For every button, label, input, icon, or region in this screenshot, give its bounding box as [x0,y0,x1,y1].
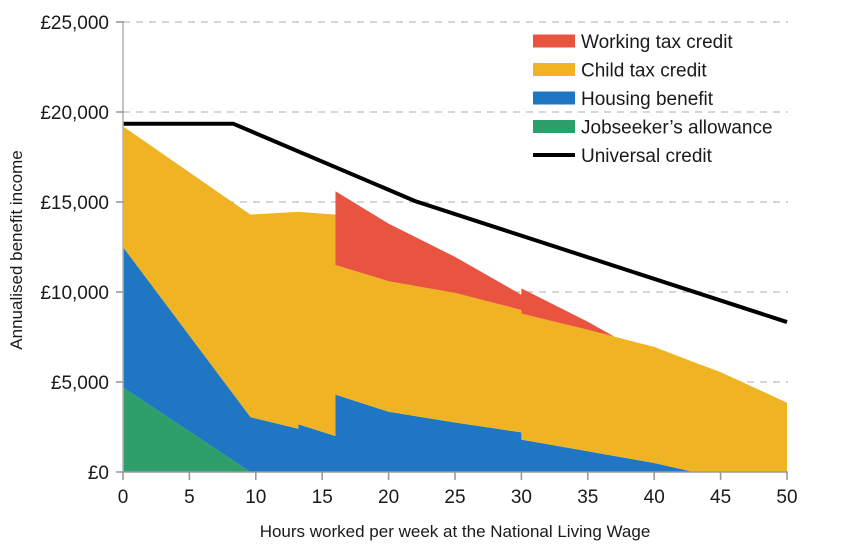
y-tick-label: £5,000 [51,373,109,394]
legend-item[interactable]: Universal credit [533,146,713,167]
legend-swatch [533,35,575,48]
legend-label: Universal credit [581,146,713,167]
x-axis [123,472,788,480]
benefit-income-chart: £0£5,000£10,000£15,000£20,000£25,000 051… [0,0,848,553]
chart-legend: Working tax creditChild tax creditHousin… [533,32,773,167]
y-tick-label: £25,000 [40,13,109,34]
x-tick-label: 25 [444,487,465,508]
y-axis [116,22,124,472]
stacked-areas [123,126,787,472]
y-tick-label: £10,000 [40,283,109,304]
x-tick-label: 45 [710,487,731,508]
legend-label: Child tax credit [581,61,707,82]
legend-label: Housing benefit [581,89,714,110]
x-tick-label: 15 [312,487,333,508]
legend-item[interactable]: Working tax credit [533,32,733,53]
chart-canvas: £0£5,000£10,000£15,000£20,000£25,000 051… [0,0,848,553]
x-tick-label: 0 [118,487,129,508]
y-tick-label: £0 [88,463,109,484]
y-axis-tick-labels: £0£5,000£10,000£15,000£20,000£25,000 [40,13,109,484]
x-axis-tick-labels: 05101520253035404550 [118,487,798,508]
y-tick-label: £15,000 [40,193,109,214]
x-tick-label: 10 [245,487,266,508]
x-tick-label: 30 [511,487,532,508]
legend-label: Working tax credit [581,32,733,53]
x-tick-label: 5 [184,487,195,508]
legend-item[interactable]: Jobseeker’s allowance [533,118,773,139]
x-axis-title: Hours worked per week at the National Li… [260,522,651,541]
legend-swatch [533,120,575,133]
x-tick-label: 20 [378,487,399,508]
y-tick-label: £20,000 [40,103,109,124]
x-tick-label: 50 [776,487,797,508]
x-tick-label: 40 [644,487,665,508]
legend-item[interactable]: Child tax credit [533,61,707,82]
legend-swatch [533,63,575,76]
x-tick-label: 35 [577,487,598,508]
legend-swatch [533,92,575,105]
legend-label: Jobseeker’s allowance [581,118,773,139]
y-axis-title: Annualised benefit income [7,150,26,349]
legend-item[interactable]: Housing benefit [533,89,714,110]
